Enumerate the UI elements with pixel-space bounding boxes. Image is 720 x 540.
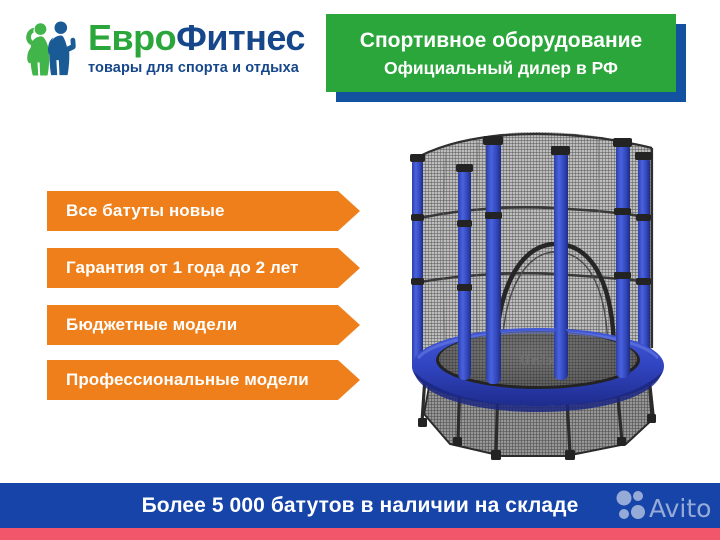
feature-tag: Профессиональные модели [47,360,360,400]
company-logo: ЕвроФитнес товары для спорта и отдыха [22,18,322,88]
logo-title-part2: Фитнес [176,17,305,58]
feature-tag: Все батуты новые [47,191,360,231]
promo-banner-image: ЕвроФитнес товары для спорта и отдыха Сп… [0,0,720,540]
header-region: ЕвроФитнес товары для спорта и отдыха Сп… [0,0,720,110]
logo-title: ЕвроФитнес [88,18,324,58]
trampoline-product-photo: Unix Unix [398,122,716,470]
avito-watermark: Avito [615,487,715,525]
header-banner: Спортивное оборудование Официальный диле… [326,14,676,92]
logo-wordmark: ЕвроФитнес товары для спорта и отдыха [88,18,324,82]
feature-tag-label: Все батуты новые [47,201,225,221]
footer-banner-text: Более 5 000 батутов в наличии на складе [0,483,720,528]
header-banner-line1: Спортивное оборудование [326,29,676,53]
feature-tag-label: Профессиональные модели [47,370,309,390]
two-athletes-icon [22,20,84,80]
feature-tag-label: Гарантия от 1 года до 2 лет [47,258,298,278]
feature-tag: Гарантия от 1 года до 2 лет [47,248,360,288]
feature-tag: Бюджетные модели [47,305,360,345]
footer-accent-strip [0,528,720,540]
svg-text:Unix: Unix [520,353,556,368]
header-banner-line2: Официальный дилер в РФ [326,58,676,79]
footer-banner: Более 5 000 батутов в наличии на складе [0,483,720,528]
avito-watermark-text: Avito [649,494,711,523]
feature-tag-label: Бюджетные модели [47,315,237,335]
logo-tagline: товары для спорта и отдыха [88,59,324,77]
logo-title-part1: Евро [88,17,176,58]
